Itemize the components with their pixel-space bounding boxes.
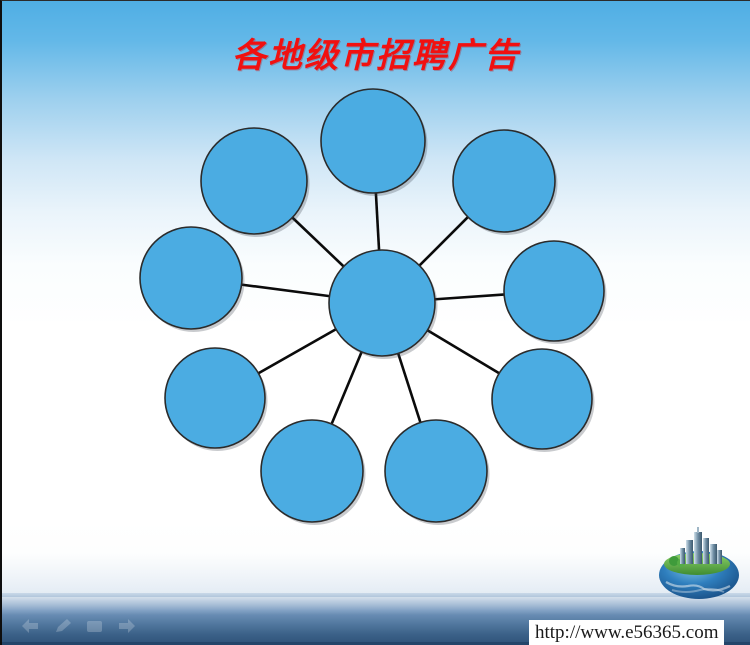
outer-node-5[interactable] — [385, 420, 487, 522]
outer-node-4[interactable] — [492, 349, 592, 449]
outer-node-7[interactable] — [165, 348, 265, 448]
outer-node-1[interactable] — [321, 89, 425, 193]
watermark-url: http://www.e56365.com — [529, 620, 724, 645]
outer-node-3[interactable] — [504, 241, 604, 341]
spoke-line-4 — [427, 330, 500, 374]
spoke-line-2 — [419, 216, 469, 266]
spoke-line-3 — [434, 294, 505, 299]
spoke-line-7 — [258, 329, 337, 374]
outer-node-8[interactable] — [140, 227, 242, 329]
spoke-line-9 — [292, 217, 345, 267]
spoke-line-5 — [398, 353, 421, 424]
center-node[interactable] — [329, 250, 435, 356]
spoke-line-1 — [376, 192, 379, 251]
slide-canvas: 各地级市招聘广告 — [0, 0, 750, 645]
outer-node-2[interactable] — [453, 130, 555, 232]
outer-node-9[interactable] — [201, 128, 307, 234]
globe-city-logo — [650, 522, 748, 600]
outer-node-6[interactable] — [261, 420, 363, 522]
nodes-group — [140, 89, 607, 525]
spoke-line-8 — [241, 284, 331, 296]
spoke-line-6 — [331, 351, 362, 425]
hub-and-spoke-diagram — [2, 1, 750, 645]
